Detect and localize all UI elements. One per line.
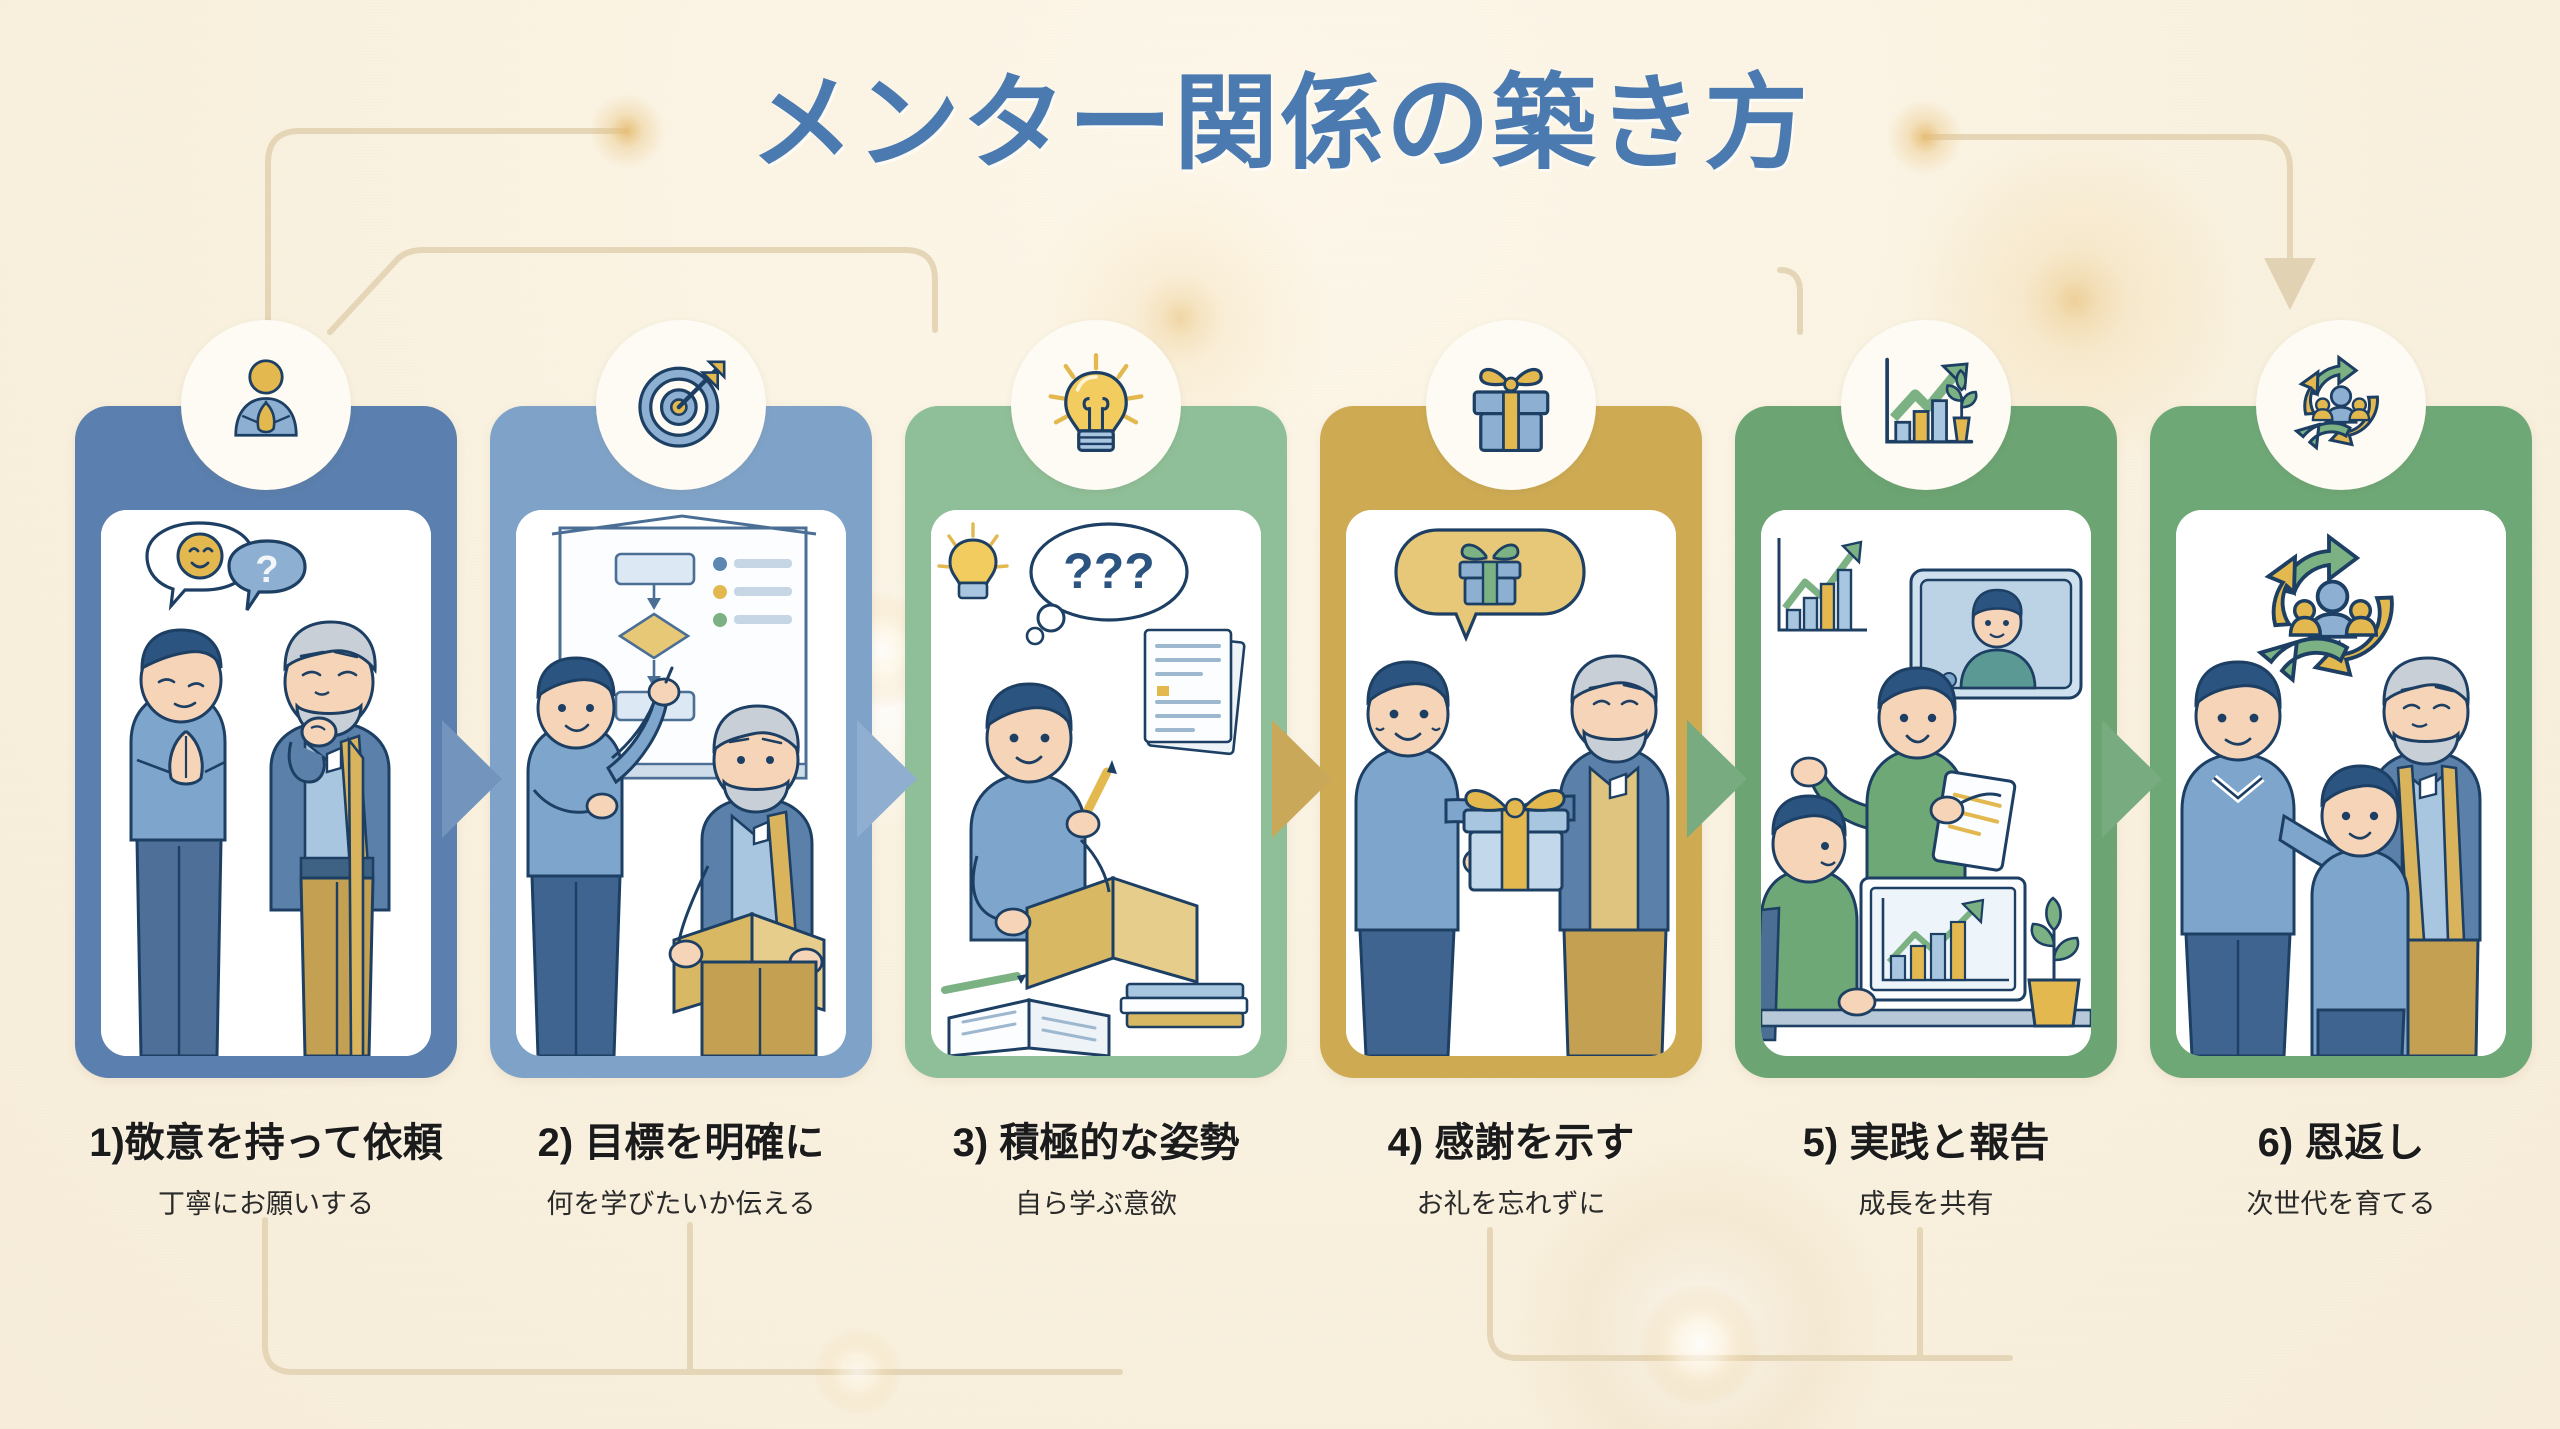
step-title-1: 1)敬意を持って依頼 bbox=[51, 1120, 481, 1166]
step-caption-3: 3) 積極的な姿勢 自ら学ぶ意欲 bbox=[881, 1120, 1311, 1221]
step-title-2: 2) 目標を明確に bbox=[466, 1120, 896, 1166]
step-card-1[interactable]: ? bbox=[75, 406, 457, 1078]
step-illustration-1: ? bbox=[101, 510, 431, 1056]
step-illustration-3: ??? bbox=[931, 510, 1261, 1056]
page-title: メンター関係の築き方 bbox=[0, 38, 2560, 189]
step-caption-5: 5) 実践と報告 成長を共有 bbox=[1711, 1120, 2141, 1221]
svg-text:?: ? bbox=[255, 549, 278, 591]
growth-chart-plant-icon bbox=[1872, 351, 1980, 459]
step-card-2[interactable] bbox=[490, 406, 872, 1078]
step-badge-5 bbox=[1841, 320, 2011, 490]
step-subtitle-1: 丁寧にお願いする bbox=[51, 1182, 481, 1221]
step-subtitle-6: 次世代を育てる bbox=[2126, 1182, 2556, 1221]
step-illustration-6 bbox=[2176, 510, 2506, 1056]
whiteboard-goal-explain-scene bbox=[516, 510, 846, 1056]
target-bullseye-icon bbox=[627, 351, 735, 459]
step-card-6[interactable] bbox=[2150, 406, 2532, 1078]
step-illustration-5 bbox=[1761, 510, 2091, 1056]
step-subtitle-4: お礼を忘れずに bbox=[1296, 1182, 1726, 1221]
cycle-people-icon bbox=[2287, 351, 2395, 459]
step-card-5[interactable] bbox=[1735, 406, 2117, 1078]
step-title-3: 3) 積極的な姿勢 bbox=[881, 1120, 1311, 1166]
student-bowing-request-scene: ? bbox=[101, 510, 431, 1056]
step-badge-2 bbox=[596, 320, 766, 490]
step-subtitle-5: 成長を共有 bbox=[1711, 1182, 2141, 1221]
step-badge-1 bbox=[181, 320, 351, 490]
step-connector-chevron-2 bbox=[857, 720, 931, 838]
gift-box-icon bbox=[1457, 351, 1565, 459]
step-title-6: 6) 恩返し bbox=[2126, 1120, 2556, 1166]
step-illustration-4 bbox=[1346, 510, 1676, 1056]
step-caption-4: 4) 感謝を示す お礼を忘れずに bbox=[1296, 1120, 1726, 1221]
praying-person-icon bbox=[212, 351, 320, 459]
step-subtitle-2: 何を学びたいか伝える bbox=[466, 1182, 896, 1221]
step-card-4[interactable] bbox=[1320, 406, 1702, 1078]
svg-text:???: ??? bbox=[1063, 543, 1155, 599]
step-card-3[interactable]: ??? bbox=[905, 406, 1287, 1078]
step-connector-chevron-5 bbox=[2102, 720, 2176, 838]
step-badge-6 bbox=[2256, 320, 2426, 490]
step-title-5: 5) 実践と報告 bbox=[1711, 1120, 2141, 1166]
gift-giving-thanks-scene bbox=[1346, 510, 1676, 1056]
step-badge-3 bbox=[1011, 320, 1181, 490]
lightbulb-icon bbox=[1042, 351, 1150, 459]
step-caption-6: 6) 恩返し 次世代を育てる bbox=[2126, 1120, 2556, 1221]
step-connector-chevron-1 bbox=[442, 720, 516, 838]
step-illustration-2 bbox=[516, 510, 846, 1056]
step-caption-1: 1)敬意を持って依頼 丁寧にお願いする bbox=[51, 1120, 481, 1221]
step-connector-chevron-3 bbox=[1272, 720, 1346, 838]
step-connector-chevron-4 bbox=[1687, 720, 1761, 838]
step-title-4: 4) 感謝を示す bbox=[1296, 1120, 1726, 1166]
report-progress-meeting-scene bbox=[1761, 510, 2091, 1056]
step-subtitle-3: 自ら学ぶ意欲 bbox=[881, 1182, 1311, 1221]
pay-it-forward-generations-scene bbox=[2176, 510, 2506, 1056]
self-study-reading-scene: ??? bbox=[931, 510, 1261, 1056]
step-badge-4 bbox=[1426, 320, 1596, 490]
step-caption-2: 2) 目標を明確に 何を学びたいか伝える bbox=[466, 1120, 896, 1221]
